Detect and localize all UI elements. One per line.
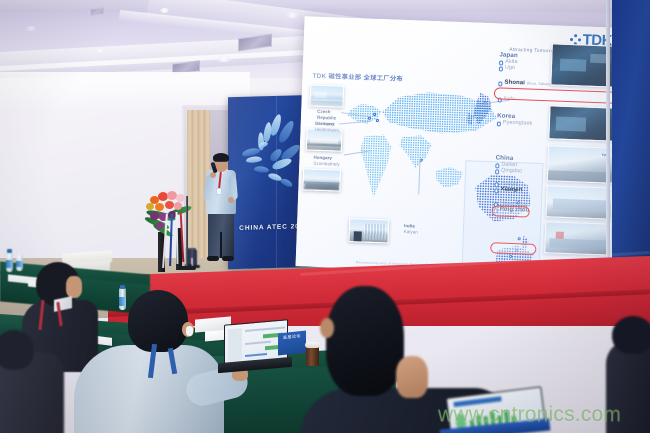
- earbud-icon: [186, 326, 193, 336]
- microphone-stand-base: [178, 266, 196, 270]
- ceiling-downlight: [216, 56, 232, 62]
- presentation-screen: TDK Attracting Tomorrow TDK 磁性事业部 全球工厂分布: [296, 16, 623, 277]
- site-photo-hungary: [302, 168, 341, 191]
- site-photo-india: [348, 218, 389, 243]
- map-label-country: India: [404, 223, 415, 228]
- map-africa: [354, 132, 400, 200]
- photo-block: [548, 170, 614, 183]
- speaker-shoe: [222, 256, 234, 261]
- site-photo-czech: [309, 85, 344, 108]
- photo-streak: [307, 143, 341, 146]
- atec-leaf-logo: [269, 113, 283, 136]
- map-label-city: Szombathely: [313, 161, 340, 167]
- speaker-hand-right: [228, 197, 234, 203]
- atec-leaf-logo: [263, 122, 273, 143]
- water-bottle: [6, 252, 13, 272]
- photo-block: [556, 232, 564, 239]
- ceiling-downlight: [286, 12, 299, 18]
- map-label-country: Germany: [315, 121, 335, 127]
- banner-seam: [276, 96, 277, 268]
- atec-leaf-logo: [279, 177, 293, 188]
- photo-block: [556, 117, 586, 132]
- site-label: Shonai: [504, 80, 525, 87]
- flower-bloom: [156, 222, 164, 229]
- photo-block: [560, 59, 586, 72]
- flower-bloom: [176, 194, 185, 202]
- laptop-ui-sidebar: [228, 328, 242, 361]
- conference-photo: CHINA ATEC 2018 TDK Attracting Tomorrow …: [0, 0, 650, 433]
- bottle-label: [6, 260, 13, 268]
- map-label-city: Kalyan: [404, 229, 418, 235]
- bottle-label: [16, 261, 23, 267]
- coffee-cup: [306, 346, 319, 366]
- screen-right-frame: [606, 0, 610, 296]
- flower-bloom: [150, 212, 159, 220]
- highlight-box-xiamen: [491, 205, 529, 217]
- watermark: www.cntronics.com: [438, 403, 621, 427]
- map-label-country2: Republic: [317, 115, 337, 121]
- ceiling-downlight: [26, 26, 36, 31]
- laptop-ui-row: [245, 341, 271, 345]
- person-head: [612, 316, 650, 354]
- photo-block: [553, 198, 607, 211]
- atec-leaf-logo: [267, 172, 282, 182]
- map-south-asia: [397, 134, 438, 175]
- person-leg: [193, 250, 197, 266]
- person-hand: [396, 356, 428, 398]
- person-head: [128, 290, 188, 352]
- photo-streak: [311, 99, 343, 102]
- atec-leaf-logo: [246, 156, 262, 164]
- person-head: [0, 330, 34, 370]
- map-label-city: Heidenheim: [314, 127, 339, 133]
- speaker-shoe: [207, 256, 219, 261]
- person-ear: [320, 318, 334, 338]
- flower-bloom: [155, 203, 164, 211]
- person-face: [66, 276, 82, 298]
- photo-block: [364, 224, 387, 241]
- atec-leaf-logo: [254, 166, 270, 174]
- map-node-pingzhou: [509, 255, 512, 258]
- flower-bloom: [165, 201, 174, 209]
- photo-block: [305, 183, 338, 189]
- laptop-ui-row: [245, 353, 267, 357]
- map-node-xiamen: [518, 237, 521, 240]
- water-bottle: [119, 288, 126, 310]
- atec-leaf-logo: [258, 132, 265, 150]
- map-node-heidenheim: [368, 117, 371, 120]
- atec-leaf-logo: [268, 147, 283, 163]
- map-link: [418, 159, 420, 195]
- ceiling-vent: [90, 7, 104, 15]
- speaker-leg-gap: [220, 232, 222, 258]
- coffee-cup-lid: [305, 342, 320, 348]
- map-label-hungary: Hungary Szombathely: [313, 155, 340, 168]
- atec-leaf-logo: [241, 147, 260, 158]
- photo-block: [549, 238, 607, 249]
- photo-block: [315, 92, 327, 98]
- table-name-card: 高层论坛: [278, 331, 306, 356]
- map-label-germany: Germany Heidenheim: [314, 121, 339, 134]
- bottle-cap: [120, 285, 125, 289]
- slide-surface: TDK Attracting Tomorrow TDK 磁性事业部 全球工厂分布: [296, 16, 623, 277]
- speaker-glasses: [216, 161, 227, 164]
- map-label-country: Hungary: [313, 155, 332, 161]
- site-photo-pingzhou-plant: [544, 221, 611, 255]
- laptop-ui-row: [245, 326, 285, 331]
- flower-bloom: [174, 202, 182, 210]
- site-photo-china-plant: [545, 185, 612, 219]
- map-label-country: Czech: [317, 109, 331, 114]
- photo-block: [353, 231, 361, 242]
- ceiling-downlight: [160, 8, 169, 13]
- bottle-cap: [7, 249, 12, 253]
- map-node-sumperk: [373, 113, 376, 116]
- site-photo-pyeongtaek: TDK: [547, 145, 614, 183]
- ceiling-downlight: [95, 48, 104, 53]
- atec-leaf-logo: [271, 156, 293, 171]
- bottle-label: [119, 297, 126, 306]
- highlight-box-pingzhou: [490, 242, 536, 255]
- atec-leaf-logo: [277, 119, 297, 144]
- water-bottle: [16, 255, 23, 271]
- speaker-badge: [216, 188, 222, 195]
- atec-leaf-logo: [257, 141, 268, 149]
- person-head: [326, 286, 404, 396]
- microphone-stand: [186, 196, 188, 268]
- table-name-card-text: 高层论坛: [278, 331, 306, 342]
- flower-bloom: [146, 203, 154, 210]
- map-label-india: India Kalyan: [404, 223, 418, 235]
- map-node-szombathely: [376, 119, 379, 122]
